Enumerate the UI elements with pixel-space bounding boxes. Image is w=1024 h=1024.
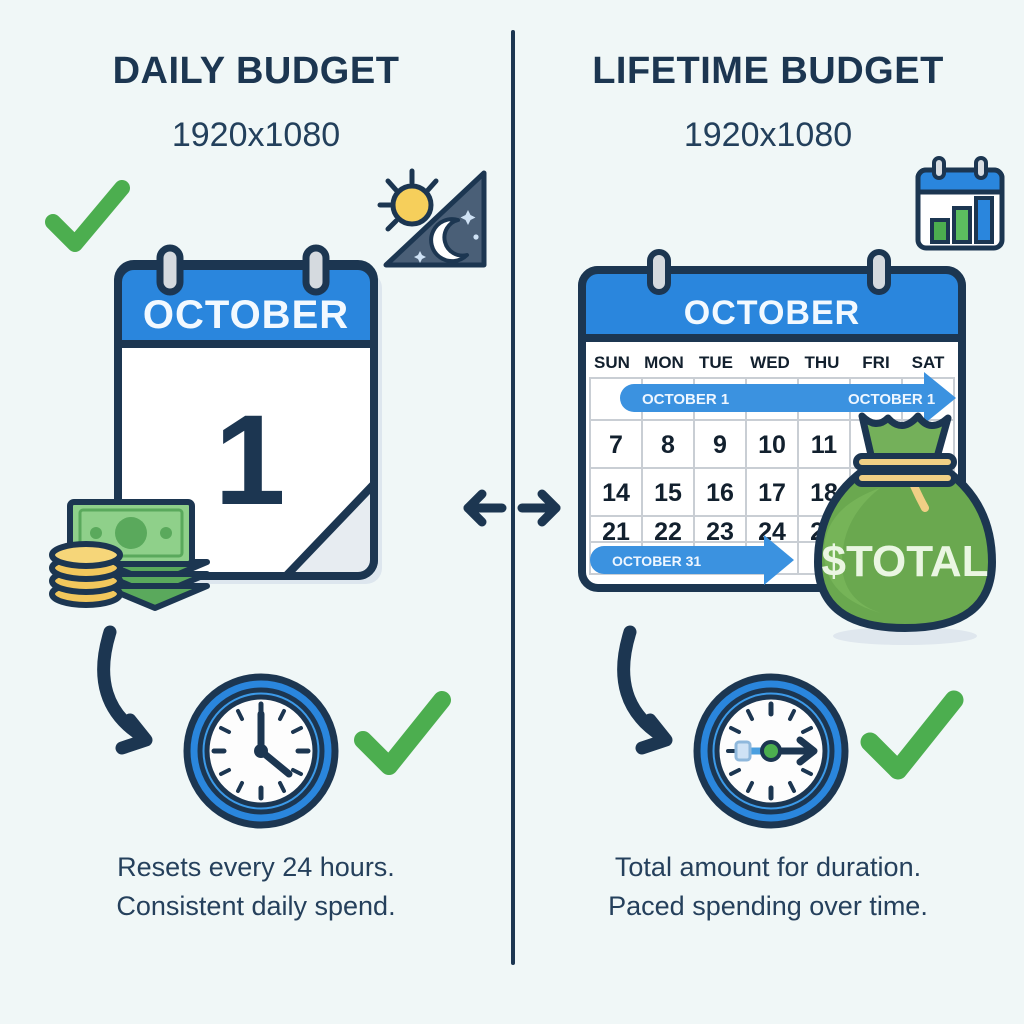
date-cell: 9 — [713, 431, 727, 459]
money-bag-label: $TOTAL — [821, 537, 988, 586]
money-bag-icon: $TOTAL — [810, 398, 1000, 648]
calendar-month-label: OCTOBER — [143, 293, 349, 337]
date-cell: 22 — [654, 518, 682, 546]
right-caption-text: Total amount for duration. Paced spendin… — [532, 848, 1004, 926]
weekday-label: WED — [750, 353, 790, 372]
banner-label: OCTOBER 31 — [612, 553, 701, 569]
date-cell: 21 — [602, 518, 630, 546]
weekday-label: FRI — [862, 353, 889, 372]
green-check-icon — [355, 690, 450, 782]
right-column-title: LIFETIME BUDGET — [512, 50, 1024, 93]
right-column-subtitle: 1920x1080 — [512, 116, 1024, 155]
cash-and-coins-icon — [42, 482, 262, 617]
date-cell: 23 — [706, 518, 734, 546]
weekday-label: SAT — [912, 353, 945, 372]
infographic-canvas: DAILY BUDGET 1920x1080 LIFETIME BUDGET 1… — [0, 0, 1024, 1024]
left-caption-text: Resets every 24 hours. Consistent daily … — [20, 848, 492, 926]
calendar-month-label: OCTOBER — [684, 294, 860, 332]
calendar-bar-chart-icon — [906, 152, 1014, 260]
weekday-label: TUE — [699, 353, 733, 372]
date-cell: 10 — [758, 431, 786, 459]
weekday-label: THU — [805, 353, 840, 372]
date-cell: 14 — [602, 479, 630, 507]
clock-icon — [182, 672, 340, 830]
left-column-title: DAILY BUDGET — [0, 50, 512, 93]
green-check-icon — [862, 690, 962, 786]
date-cell: 8 — [661, 431, 675, 459]
date-cell: 16 — [706, 479, 734, 507]
left-column-subtitle: 1920x1080 — [0, 116, 512, 155]
green-check-icon — [45, 178, 130, 258]
left-right-arrow-icon — [462, 482, 562, 534]
date-cell: 7 — [609, 431, 623, 459]
weekday-label: MON — [644, 353, 684, 372]
weekday-label: SUN — [594, 353, 630, 372]
banner-start-label: OCTOBER 1 — [642, 391, 729, 408]
clock-with-arrow-icon — [692, 672, 850, 830]
date-cell: 15 — [654, 479, 682, 507]
date-cell: 17 — [758, 479, 786, 507]
